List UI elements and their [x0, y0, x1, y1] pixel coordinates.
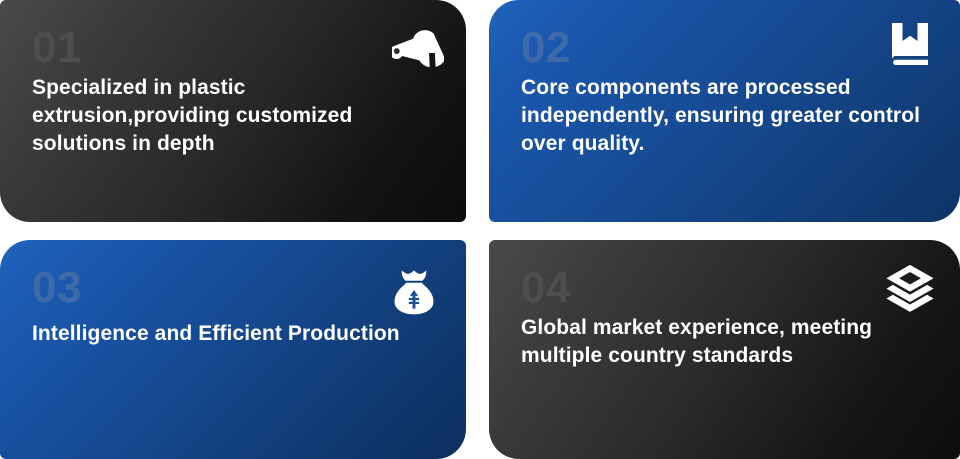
card-number: 02: [521, 26, 934, 70]
card-title: Intelligence and Efficient Production: [32, 320, 440, 348]
card-title: Specialized in plastic extrusion,providi…: [32, 74, 440, 158]
card-number: 04: [521, 266, 934, 310]
card-title: Global market experience, meeting multip…: [521, 314, 934, 370]
feature-card-03[interactable]: 03 Intelligence and Efficient Production: [0, 240, 466, 459]
feature-card-04[interactable]: 04 Global market experience, meeting mul…: [489, 240, 960, 459]
feature-card-01[interactable]: 01 Specialized in plastic extrusion,prov…: [0, 0, 466, 222]
feature-cards-grid: 01 Specialized in plastic extrusion,prov…: [0, 0, 960, 459]
card-number: 03: [32, 266, 440, 310]
feature-card-02[interactable]: 02 Core components are processed indepen…: [489, 0, 960, 222]
card-number: 01: [32, 26, 440, 70]
card-title: Core components are processed independen…: [521, 74, 934, 158]
